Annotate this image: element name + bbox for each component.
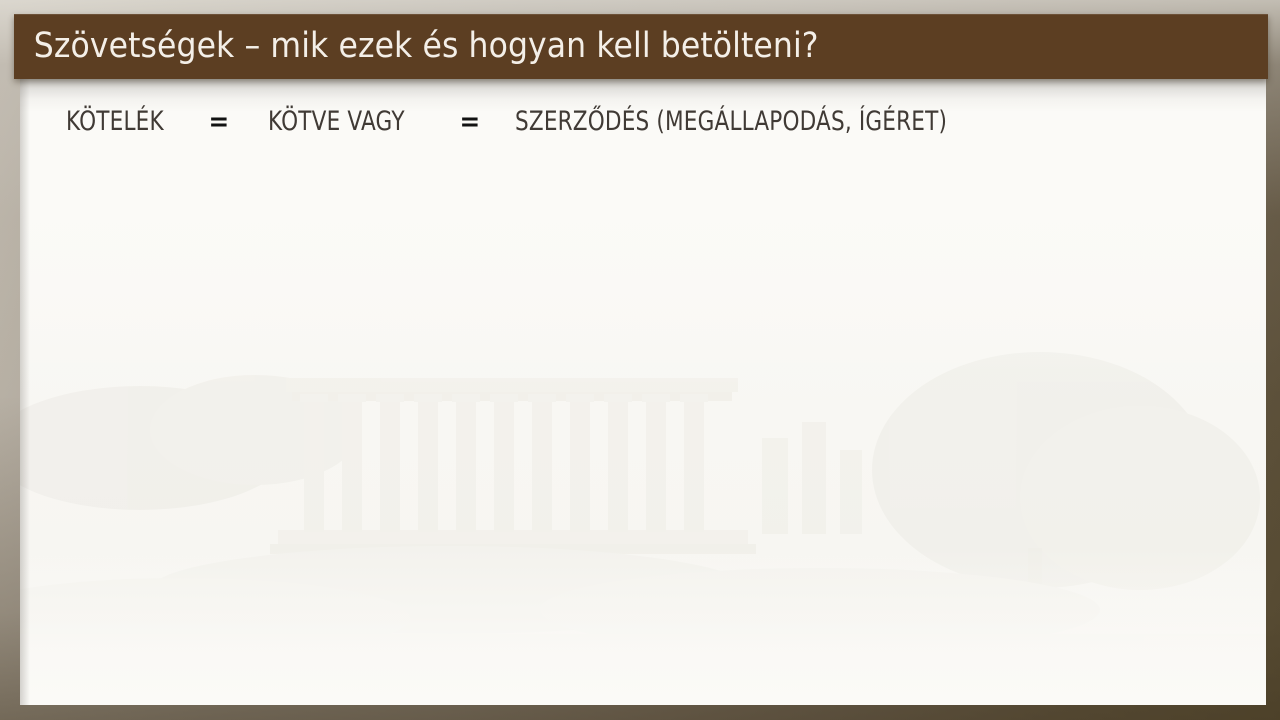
slide-frame: KÖTELÉK = KÖTVE VAGY = SZERZŐDÉS (MEGÁLL… [0, 0, 1280, 720]
slide-body-panel: KÖTELÉK = KÖTVE VAGY = SZERZŐDÉS (MEGÁLL… [20, 78, 1266, 705]
equation-operator-1: = [209, 107, 230, 138]
equation-term-1: KÖTELÉK [66, 106, 164, 138]
page-title: Szövetségek – mik ezek és hogyan kell be… [14, 29, 819, 64]
equation-line: KÖTELÉK = KÖTVE VAGY = SZERZŐDÉS (MEGÁLL… [66, 106, 1226, 138]
slide-title-bar: Szövetségek – mik ezek és hogyan kell be… [14, 14, 1268, 79]
equation-term-3: SZERZŐDÉS (MEGÁLLAPODÁS, ÍGÉRET) [515, 106, 947, 138]
equation-term-2: KÖTVE VAGY [268, 106, 405, 138]
slide-content-area: KÖTELÉK = KÖTVE VAGY = SZERZŐDÉS (MEGÁLL… [20, 78, 1266, 705]
equation-operator-2: = [459, 107, 480, 138]
